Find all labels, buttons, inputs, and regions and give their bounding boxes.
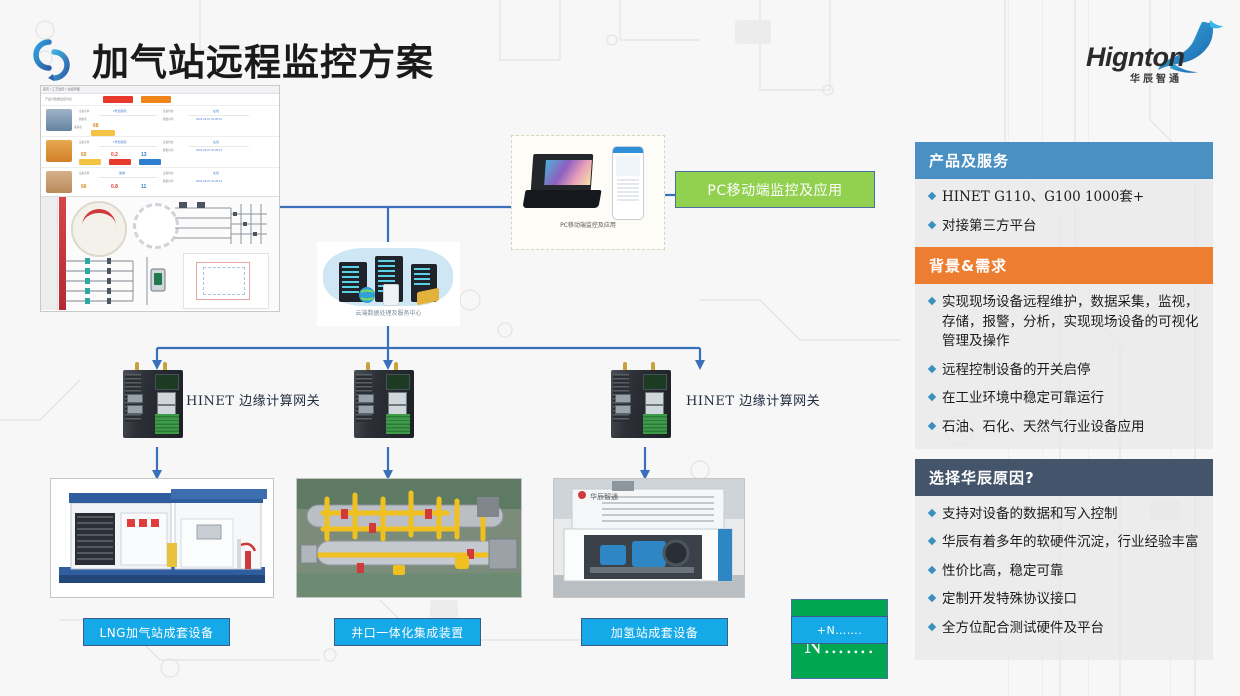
scada-row[interactable]: 设备名称 2号加液机 设备状态 在线 数据项 数据时间 2019-03-07 1… bbox=[41, 106, 279, 137]
diamond-bullet-icon bbox=[928, 297, 936, 305]
bullet-item: 石油、石化、天然气行业设备应用 bbox=[925, 418, 1203, 438]
bullet-text: 全方位配合测试硬件及平台 bbox=[942, 619, 1104, 639]
scada-process-diagram bbox=[41, 197, 279, 310]
cloud-caption: 云端数据处理及服务中心 bbox=[317, 308, 460, 317]
bullet-item: 在工业环境中稳定可靠运行 bbox=[925, 389, 1203, 409]
pc-mobile-caption: PC移动端监控及应用 bbox=[512, 220, 664, 229]
scada-device-list: 首页 > 工艺监控 > 站控界面 产品与数据监控列表 设备名称 2号加液机 设备… bbox=[41, 86, 279, 197]
bullet-text: 远程控制设备的开关启停 bbox=[942, 361, 1091, 381]
globe-icon bbox=[357, 284, 383, 306]
diamond-bullet-icon bbox=[928, 220, 936, 228]
section-background: 背景&需求 实现现场设备远程维护，数据采集，监视，存储，报警，分析，实现现场设备… bbox=[915, 247, 1213, 448]
device-thumbnail bbox=[46, 140, 72, 162]
scada-dashboard-screenshot: 首页 > 工艺监控 > 站控界面 产品与数据监控列表 设备名称 2号加液机 设备… bbox=[40, 85, 280, 312]
device-thumbnail bbox=[46, 171, 72, 193]
section-title-products: 产品及服务 bbox=[915, 142, 1213, 179]
equipment-label-wellhead[interactable]: 井口一体化集成装置 bbox=[334, 618, 481, 646]
info-panel: 产品及服务 HINET G110、G100 1000套+ 对接第三方平台 背景&… bbox=[915, 142, 1213, 660]
bullet-item: 全方位配合测试硬件及平台 bbox=[925, 619, 1203, 639]
section-title-why-us: 选择华辰原因? bbox=[915, 459, 1213, 496]
diamond-bullet-icon bbox=[928, 422, 936, 430]
svg-text:华辰智通: 华辰智通 bbox=[590, 492, 618, 501]
bullet-item: 实现现场设备远程维护，数据采集，监视，存储，报警，分析，实现现场设备的可视化管理… bbox=[925, 293, 1203, 352]
smartphone-icon bbox=[612, 146, 644, 220]
gateway-device-2 bbox=[346, 360, 430, 444]
page-title: 加气站远程监控方案 bbox=[92, 32, 434, 86]
bullet-text: 石油、石化、天然气行业设备应用 bbox=[942, 418, 1145, 438]
equipment-photo-hydrogen: 华辰智通 bbox=[553, 478, 745, 598]
bullet-item: 定制开发特殊协议接口 bbox=[925, 590, 1203, 610]
bullet-text: HINET G110、G100 1000套+ bbox=[942, 188, 1144, 208]
bullet-item: HINET G110、G100 1000套+ bbox=[925, 188, 1203, 208]
diamond-bullet-icon bbox=[928, 508, 936, 516]
pc-mobile-label[interactable]: PC移动端监控及应用 bbox=[675, 171, 875, 208]
brand-name: Hignton bbox=[1086, 42, 1184, 73]
bullet-text: 华辰有着多年的软硬件沉淀，行业经验丰富 bbox=[942, 533, 1199, 553]
architecture-diagram: 首页 > 工艺监控 > 站控界面 产品与数据监控列表 设备名称 2号加液机 设备… bbox=[0, 80, 910, 696]
equipment-photo-lng bbox=[50, 478, 274, 598]
diamond-bullet-icon bbox=[928, 623, 936, 631]
pc-mobile-screenshot: PC移动端监控及应用 bbox=[511, 135, 665, 250]
section-body-products: HINET G110、G100 1000套+ 对接第三方平台 bbox=[915, 179, 1213, 247]
gateway-device-3 bbox=[603, 360, 687, 444]
scada-history-button[interactable] bbox=[141, 96, 171, 103]
bullet-text: 对接第三方平台 bbox=[942, 217, 1037, 237]
bullet-item: 远程控制设备的开关启停 bbox=[925, 361, 1203, 381]
gateway-label-left: HINET 边缘计算网关 bbox=[186, 390, 320, 409]
bullet-item: 性价比高，稳定可靠 bbox=[925, 562, 1203, 582]
section-products: 产品及服务 HINET G110、G100 1000套+ 对接第三方平台 bbox=[915, 142, 1213, 247]
brand-logo: Hignton 华辰智通 bbox=[1086, 22, 1226, 84]
section-why-us: 选择华辰原因? 支持对设备的数据和写入控制 华辰有着多年的软硬件沉淀，行业经验丰… bbox=[915, 459, 1213, 661]
cloud-datacenter-image: 云端数据处理及服务中心 bbox=[317, 242, 460, 326]
laptop-icon bbox=[524, 154, 596, 212]
circular-loop-logo-icon bbox=[26, 34, 78, 86]
bullet-item: 华辰有着多年的软硬件沉淀，行业经验丰富 bbox=[925, 533, 1203, 553]
bullet-item: 支持对设备的数据和写入控制 bbox=[925, 505, 1203, 525]
section-body-why-us: 支持对设备的数据和写入控制 华辰有着多年的软硬件沉淀，行业经验丰富 性价比高，稳… bbox=[915, 496, 1213, 661]
bullet-text: 支持对设备的数据和写入控制 bbox=[942, 505, 1118, 525]
scada-row[interactable]: 设备名称 1号加液机 设备状态 在线 数据时间 2019-03-07 10:28… bbox=[41, 137, 279, 168]
bullet-text: 实现现场设备远程维护，数据采集，监视，存储，报警，分析，实现现场设备的可视化管理… bbox=[942, 293, 1203, 352]
section-title-background: 背景&需求 bbox=[915, 247, 1213, 284]
equipment-label-lng[interactable]: LNG加气站成套设备 bbox=[83, 618, 230, 646]
gateway-label-right: HINET 边缘计算网关 bbox=[686, 390, 820, 409]
bullet-text: 在工业环境中稳定可靠运行 bbox=[942, 389, 1104, 409]
section-body-background: 实现现场设备远程维护，数据采集，监视，存储，报警，分析，实现现场设备的可视化管理… bbox=[915, 284, 1213, 448]
diamond-bullet-icon bbox=[928, 594, 936, 602]
equipment-label-hydrogen[interactable]: 加氢站成套设备 bbox=[581, 618, 728, 646]
bullet-text: 定制开发特殊协议接口 bbox=[942, 590, 1077, 610]
brand-name-cn: 华辰智通 bbox=[1130, 70, 1182, 85]
bullet-text: 性价比高，稳定可靠 bbox=[942, 562, 1064, 582]
equipment-photo-wellhead bbox=[296, 478, 522, 598]
device-thumbnail bbox=[46, 109, 72, 131]
diamond-bullet-icon bbox=[928, 365, 936, 373]
diamond-bullet-icon bbox=[928, 565, 936, 573]
bullet-item: 对接第三方平台 bbox=[925, 217, 1203, 237]
page-header: 加气站远程监控方案 Hignton 华辰智通 bbox=[0, 0, 1240, 96]
more-equipment-label[interactable]: +N……. bbox=[791, 616, 888, 644]
scada-alarm-button[interactable] bbox=[103, 96, 133, 103]
scada-row[interactable]: 设备名称 储罐 设备状态 在线 数据时间 2019-03-07 10:28:41… bbox=[41, 168, 279, 197]
diamond-bullet-icon bbox=[928, 393, 936, 401]
diamond-bullet-icon bbox=[928, 192, 936, 200]
diamond-bullet-icon bbox=[928, 537, 936, 545]
